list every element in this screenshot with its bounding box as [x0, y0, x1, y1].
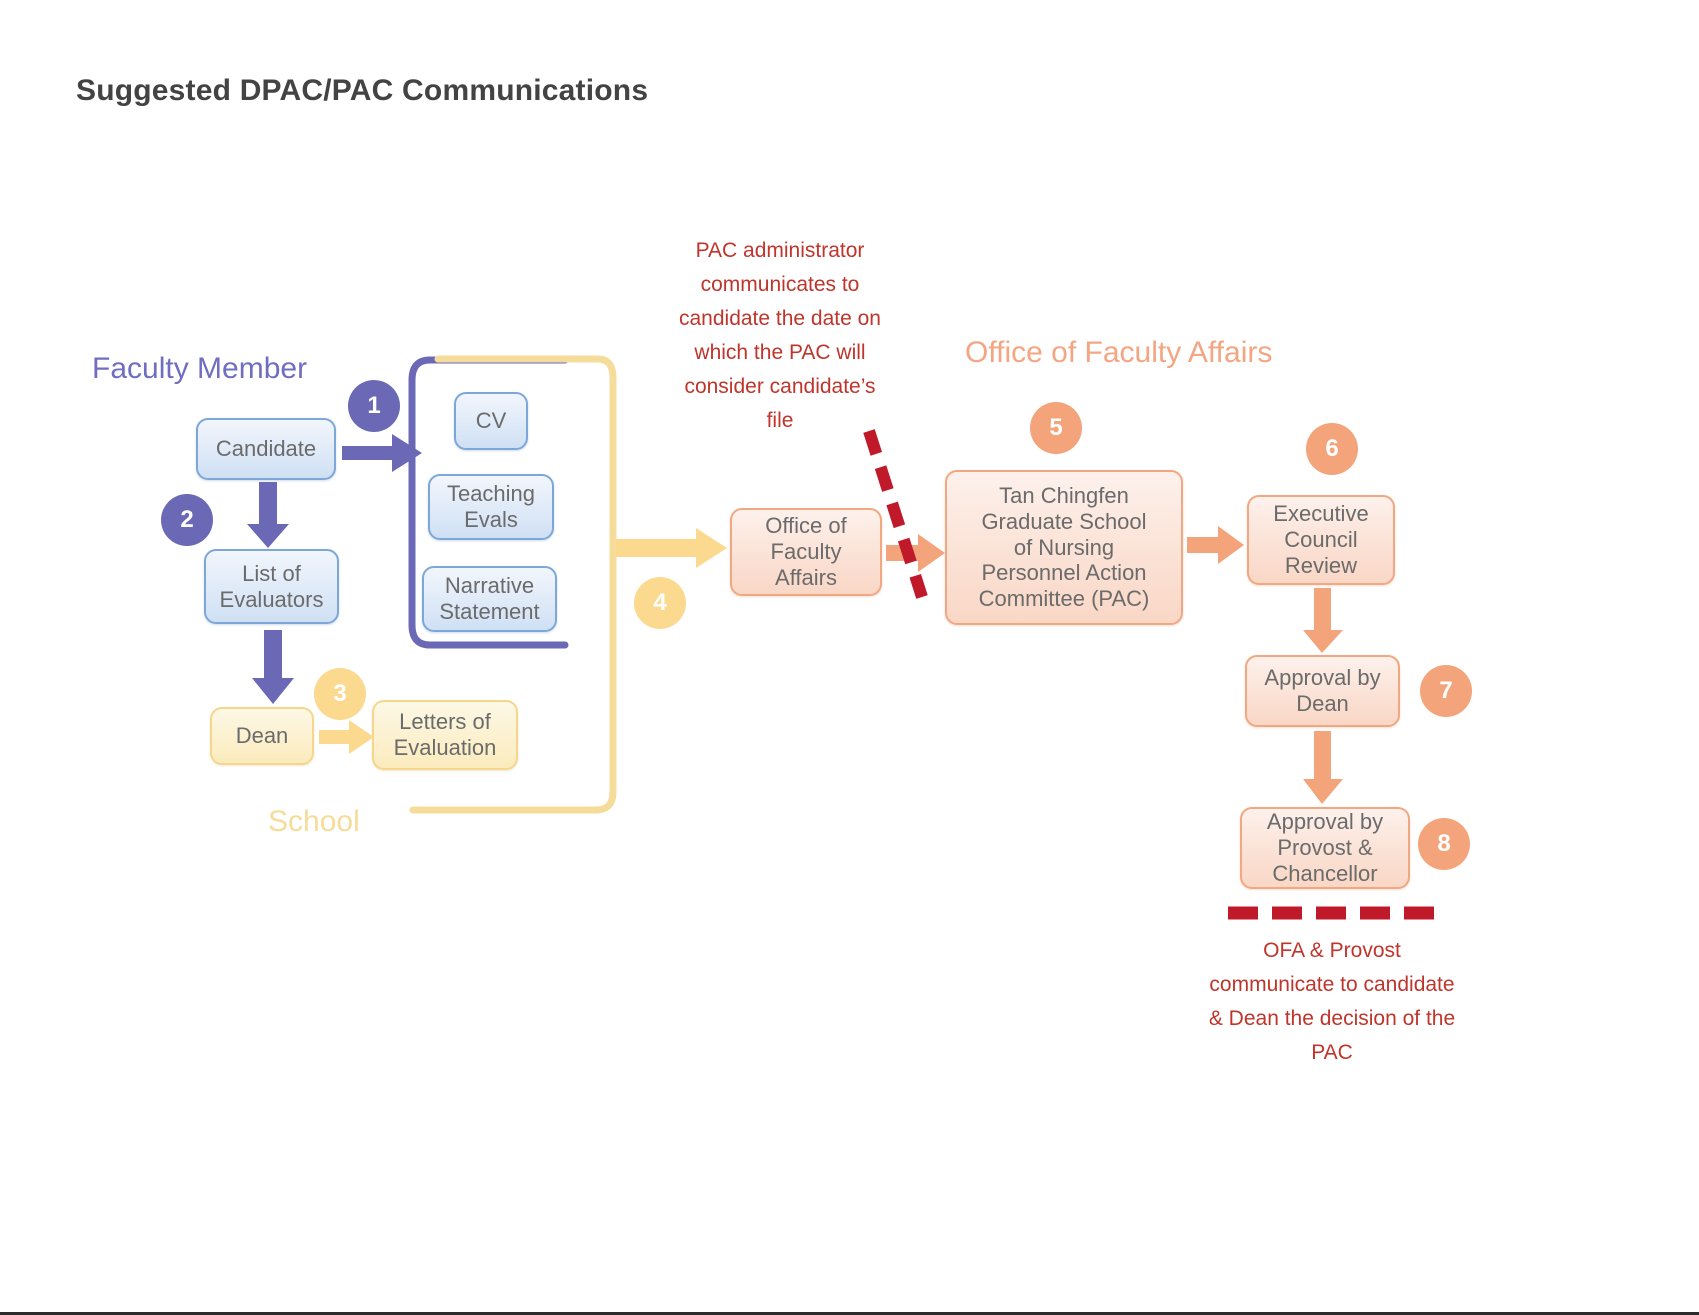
step-badge-8: 8 — [1418, 818, 1470, 870]
arrow-approval-dean-to-provost — [1300, 729, 1346, 807]
slide-canvas: Suggested DPAC/PAC Communications Facult… — [0, 0, 1699, 1315]
red-dashed-divider-diagonal — [856, 425, 946, 605]
red-dashed-divider-horizontal — [1222, 900, 1448, 926]
node-executive-council-review[interactable]: Executive Council Review — [1247, 495, 1395, 585]
annotation-ofa-provost-note: OFA & Provost communicate to candidate &… — [1208, 934, 1456, 1070]
page-title: Suggested DPAC/PAC Communications — [76, 74, 648, 108]
step-badge-6: 6 — [1306, 423, 1358, 475]
node-cv[interactable]: CV — [454, 392, 528, 450]
step-badge-7: 7 — [1420, 665, 1472, 717]
step-badge-1: 1 — [348, 380, 400, 432]
step-badge-2: 2 — [161, 494, 213, 546]
node-dean[interactable]: Dean — [210, 707, 314, 765]
node-narrative-statement[interactable]: Narrative Statement — [422, 566, 557, 632]
arrow-candidate-to-file — [340, 428, 426, 478]
group-label-school: School — [268, 805, 360, 839]
node-approval-by-provost-chancellor[interactable]: Approval by Provost & Chancellor — [1240, 807, 1410, 889]
arrow-candidate-to-evaluators — [243, 480, 293, 552]
arrow-evaluators-to-dean — [248, 628, 298, 708]
annotation-pac-admin-note: PAC administrator communicates to candid… — [676, 234, 884, 438]
arrow-school-to-ofa — [614, 525, 730, 571]
node-teaching-evals[interactable]: Teaching Evals — [428, 474, 554, 540]
group-label-office-of-faculty-affairs: Office of Faculty Affairs — [965, 336, 1272, 370]
node-candidate[interactable]: Candidate — [196, 418, 336, 480]
step-badge-3: 3 — [314, 668, 366, 720]
node-approval-by-dean[interactable]: Approval by Dean — [1245, 655, 1400, 727]
step-badge-5: 5 — [1030, 402, 1082, 454]
group-label-faculty-member: Faculty Member — [92, 352, 307, 386]
arrow-executive-council-to-approval-dean — [1300, 586, 1346, 656]
step-badge-4: 4 — [634, 577, 686, 629]
node-letters-of-evaluation[interactable]: Letters of Evaluation — [372, 700, 518, 770]
node-pac[interactable]: Tan Chingfen Graduate School of Nursing … — [945, 470, 1183, 625]
arrow-dean-to-letters — [317, 716, 377, 758]
arrow-pac-to-executive-council — [1185, 523, 1247, 567]
node-list-of-evaluators[interactable]: List of Evaluators — [204, 549, 339, 624]
